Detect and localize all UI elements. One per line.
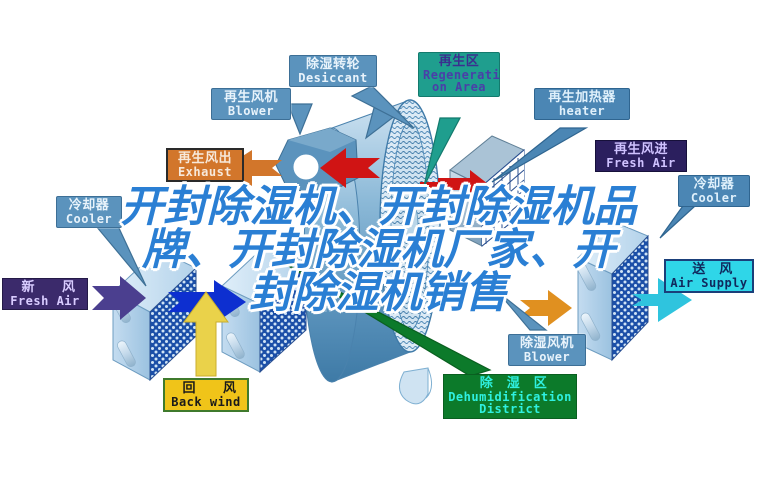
label-regeneration-area-cn: 再生区 [423, 55, 495, 69]
watermark-line-3: 封除湿机销售 [0, 272, 757, 315]
label-regeneration-area-en2: on Area [423, 81, 495, 94]
label-regeneration-inlet-en: Fresh Air [600, 157, 682, 170]
label-regeneration-inlet-cn: 再生风进 [600, 143, 682, 157]
label-exhaust[interactable]: 再生风出 Exhaust [166, 148, 244, 182]
label-regeneration-blower-cn: 再生风机 [216, 91, 286, 105]
label-back-wind[interactable]: 回 风 Back wind [163, 378, 249, 412]
label-regeneration-heater-en: heater [539, 105, 625, 118]
condensate-drip [399, 368, 431, 404]
watermark-overlay: 开封除湿机、开封除湿机品 牌、开封除湿机厂家、开 封除湿机销售 [0, 186, 757, 315]
label-regeneration-inlet[interactable]: 再生风进 Fresh Air [595, 140, 687, 172]
label-regeneration-heater[interactable]: 再生加热器 heater [534, 88, 630, 120]
label-dehumidification-district-en2: District [448, 403, 572, 416]
watermark-line-2: 牌、开封除湿机厂家、开 [0, 229, 757, 272]
label-exhaust-en: Exhaust [172, 166, 238, 179]
label-back-wind-en: Back wind [169, 396, 243, 409]
label-desiccant-wheel-en: Desiccant [294, 72, 372, 85]
label-dehum-blower-cn: 除湿风机 [513, 337, 581, 351]
label-dehumidification-district-cn: 除 湿 区 [448, 377, 572, 391]
label-regeneration-blower-en: Blower [216, 105, 286, 118]
label-regeneration-area[interactable]: 再生区 Regenerati on Area [418, 52, 500, 97]
dehumidifier-diagram-canvas: XH [0, 0, 757, 488]
label-regeneration-blower[interactable]: 再生风机 Blower [211, 88, 291, 120]
watermark-line-1: 开封除湿机、开封除湿机品 [0, 186, 757, 229]
label-dehumidification-district[interactable]: 除 湿 区 Dehumidification District [443, 374, 577, 419]
label-desiccant-wheel[interactable]: 除湿转轮 Desiccant [289, 55, 377, 87]
label-dehum-blower-en: Blower [513, 351, 581, 364]
label-back-wind-cn: 回 风 [169, 382, 243, 396]
label-desiccant-wheel-cn: 除湿转轮 [294, 58, 372, 72]
label-regeneration-heater-cn: 再生加热器 [539, 91, 625, 105]
label-dehum-blower[interactable]: 除湿风机 Blower [508, 334, 586, 366]
label-exhaust-cn: 再生风出 [172, 152, 238, 166]
